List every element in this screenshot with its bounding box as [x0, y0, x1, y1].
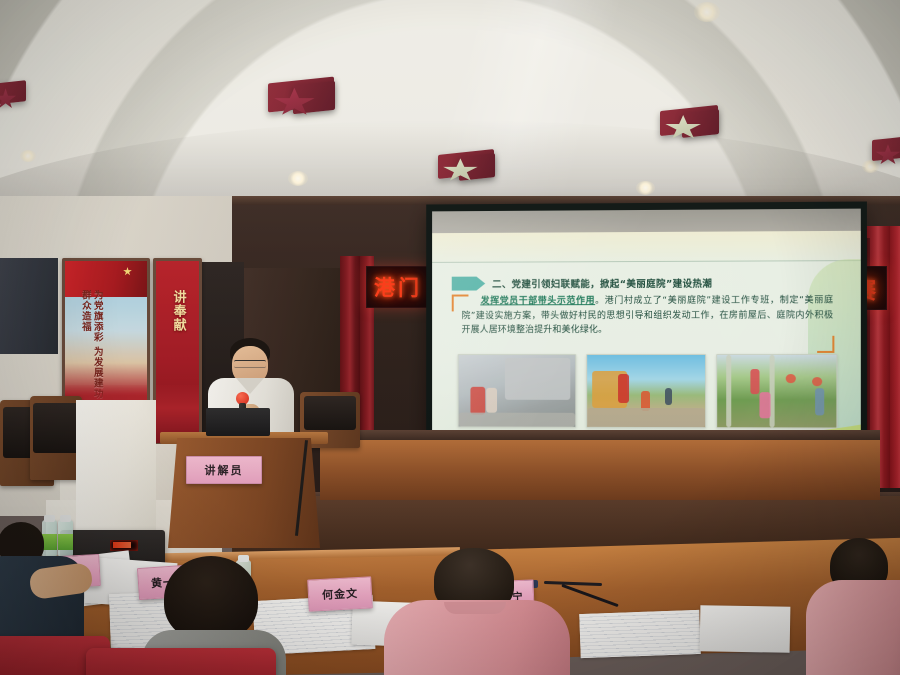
star-ornament [872, 134, 900, 168]
ceiling-downlight [636, 181, 655, 195]
amplifier-display-digits [113, 542, 131, 548]
lantern-icon [786, 374, 796, 383]
led-banner-left-text: 港门 [374, 272, 422, 302]
building-shape [505, 358, 570, 400]
arrow-marker-icon [452, 277, 485, 291]
slide-highlight-text: 发挥党员干部带头示范作用 [480, 296, 595, 306]
led-banner-left: 港门 [366, 266, 430, 308]
slide-top-decoration [432, 231, 861, 263]
lantern-icon [812, 377, 822, 386]
screen-letterbox-top [432, 209, 861, 234]
poster-side: 讲奉献 [153, 258, 202, 446]
conference-chair [30, 396, 82, 480]
nameplate-text: 何金文 [322, 585, 359, 603]
attendee-right-pink [812, 544, 900, 675]
laptop-screen [206, 408, 270, 436]
conference-room-photo: 为党旗添彩 为发展建功 为群众造福 讲奉献 港门 赛 [0, 0, 900, 675]
figure-shape [665, 388, 672, 405]
head-table-edge [320, 430, 880, 440]
amplifier-display [110, 540, 138, 551]
attendee-shirt [806, 580, 900, 675]
bottle-cap [44, 515, 55, 522]
figure-shape [470, 386, 485, 415]
ceiling-downlight [288, 171, 308, 186]
ceiling-downlight [20, 150, 36, 162]
figure-shape [750, 369, 760, 394]
podium-nameplate-text: 讲解员 [205, 462, 244, 478]
document-sheet [579, 610, 700, 658]
flag-band [65, 261, 147, 297]
bottle-cap [60, 515, 71, 522]
podium-nameplate: 讲解员 [186, 456, 262, 484]
figure-shape [815, 388, 825, 416]
head-table [320, 436, 880, 500]
chair-seat-pad [33, 403, 79, 453]
presenter-glasses-icon [234, 360, 266, 368]
star-ornament [268, 74, 334, 120]
red-auditorium-seat [86, 648, 276, 675]
document-sheet [700, 605, 791, 653]
slide-body: 发挥党员干部带头示范作用。港门村成立了“美丽庭院”建设工作专班，制定“美丽庭院”… [462, 293, 834, 337]
star-ornament [438, 147, 494, 185]
figure-shape [760, 393, 771, 419]
chair-seat-pad [304, 396, 357, 430]
wall-panel [0, 258, 58, 354]
attendee-pink-polo [386, 548, 562, 675]
star-ornament [0, 78, 26, 112]
sign-shape [618, 374, 630, 403]
slide-heading: 二、党建引领妇联赋能，掀起“美丽庭院”建设热潮 [492, 276, 712, 291]
star-ornament [660, 103, 718, 143]
ceiling-downlight [694, 2, 720, 22]
slide-heading-row: 二、党建引领妇联赋能，掀起“美丽庭院”建设热潮 [452, 276, 713, 291]
attendee-collar [444, 602, 506, 614]
microphone [236, 392, 249, 405]
corner-bracket-icon [817, 336, 834, 353]
nameplate-he-jinwen: 何金文 [307, 576, 373, 611]
figure-shape [487, 388, 497, 412]
trellis-shape [727, 355, 732, 427]
